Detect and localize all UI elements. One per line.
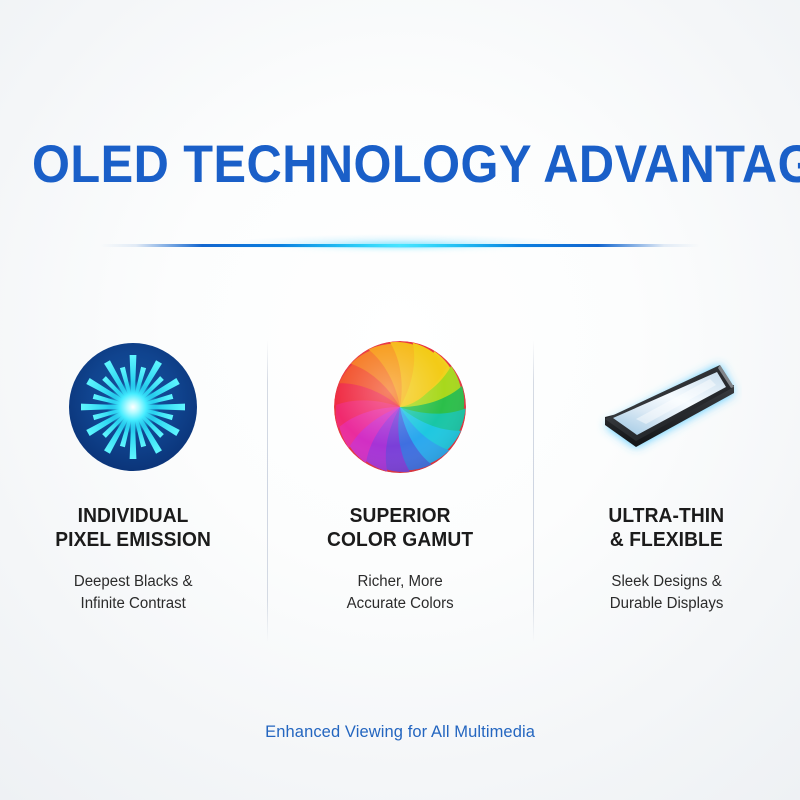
icon-slot [592,332,742,482]
feature-headline: ULTRA-THIN & FLEXIBLE [609,504,725,553]
feature-headline-line2: COLOR GAMUT [327,528,473,552]
icon-slot [66,332,200,482]
icon-slot [330,332,470,482]
title-block: OLED TECHNOLOGY ADVANTAGES [0,138,800,191]
oled-advantages-poster: OLED TECHNOLOGY ADVANTAGES [0,0,800,800]
feature-subline-line1: Richer, More [347,571,454,593]
glow-divider [100,226,700,252]
feature-headline-line2: & FLEXIBLE [609,528,725,552]
thin-flexible-display-icon [592,347,742,467]
feature-column-color-gamut: SUPERIOR COLOR GAMUT Richer, More Accura… [267,332,534,652]
color-wheel-icon [330,337,470,477]
feature-subline-line1: Sleek Designs & [610,571,724,593]
feature-column-ultra-thin: ULTRA-THIN & FLEXIBLE Sleek Designs & Du… [533,332,800,652]
feature-headline: SUPERIOR COLOR GAMUT [327,504,473,553]
feature-subline-line2: Accurate Colors [347,593,454,615]
feature-headline-line1: ULTRA-THIN [609,504,725,528]
feature-headline-line1: SUPERIOR [327,504,473,528]
feature-subline: Sleek Designs & Durable Displays [610,571,724,616]
feature-subline: Deepest Blacks & Infinite Contrast [74,571,193,616]
feature-subline: Richer, More Accurate Colors [347,571,454,616]
feature-headline: INDIVIDUAL PIXEL EMISSION [55,504,211,553]
footer: Enhanced Viewing for All Multimedia [0,722,800,742]
pixel-emission-burst-icon [66,340,200,474]
feature-columns: INDIVIDUAL PIXEL EMISSION Deepest Blacks… [0,332,800,652]
feature-subline-line2: Infinite Contrast [74,593,193,615]
feature-headline-line1: INDIVIDUAL [55,504,211,528]
feature-subline-line1: Deepest Blacks & [74,571,193,593]
feature-column-pixel-emission: INDIVIDUAL PIXEL EMISSION Deepest Blacks… [0,332,267,652]
feature-subline-line2: Durable Displays [610,593,724,615]
glow-divider-line-icon [100,244,700,247]
page-title: OLED TECHNOLOGY ADVANTAGES [32,138,768,191]
footer-tagline: Enhanced Viewing for All Multimedia [265,722,535,742]
feature-headline-line2: PIXEL EMISSION [55,528,211,552]
